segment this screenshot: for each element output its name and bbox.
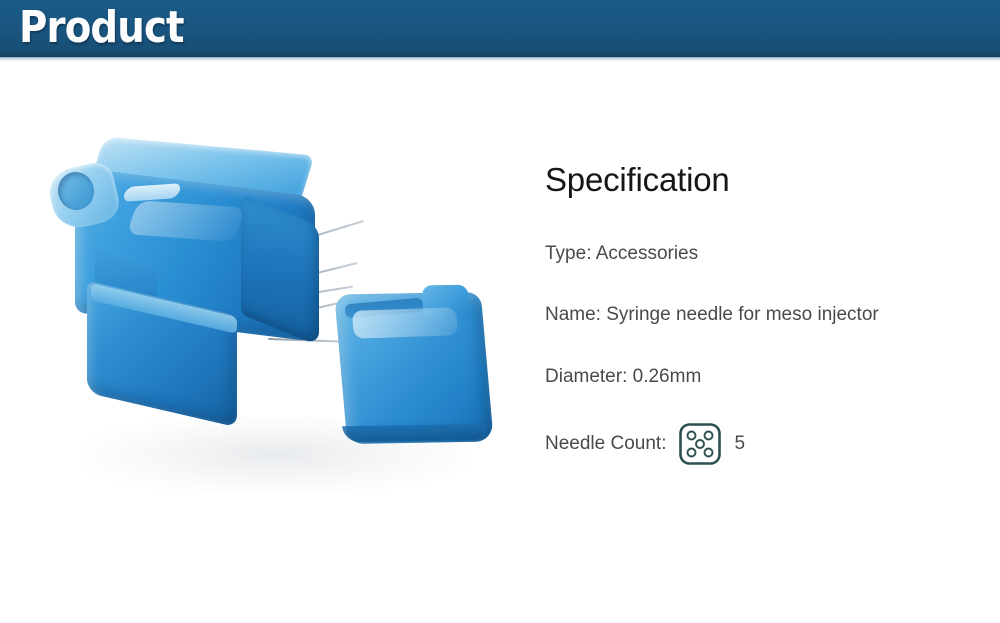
spec-row-name: Name: Syringe needle for meso injector — [545, 303, 879, 327]
spec-row-type: Type: Accessories — [545, 242, 698, 266]
spec-row-needle-count: Needle Count: 5 — [545, 422, 745, 466]
cap-highlight — [352, 307, 459, 339]
syringe-needle-cartridge — [35, 130, 325, 420]
product-specification-page: Product Spec — [0, 0, 1000, 623]
five-needle-pattern-icon — [678, 422, 722, 466]
header-banner: Product — [0, 0, 1000, 57]
needle-count-label: Needle Count: — [545, 432, 666, 456]
product-photo — [25, 120, 515, 480]
spec-row-diameter-text: Diameter: 0.26mm — [545, 365, 701, 389]
specification-panel: Specification Type: Accessories Name: Sy… — [545, 160, 975, 200]
spec-row-name-text: Name: Syringe needle for meso injector — [545, 303, 879, 327]
protective-cap — [335, 275, 500, 450]
page-title: Product — [19, 2, 184, 54]
spec-row-diameter: Diameter: 0.26mm — [545, 365, 701, 389]
spec-row-type-text: Type: Accessories — [545, 242, 698, 266]
specification-heading: Specification — [545, 160, 975, 200]
cap-bottom-edge — [342, 424, 488, 442]
needle-count-value: 5 — [734, 432, 745, 456]
header-underline — [0, 57, 1000, 61]
